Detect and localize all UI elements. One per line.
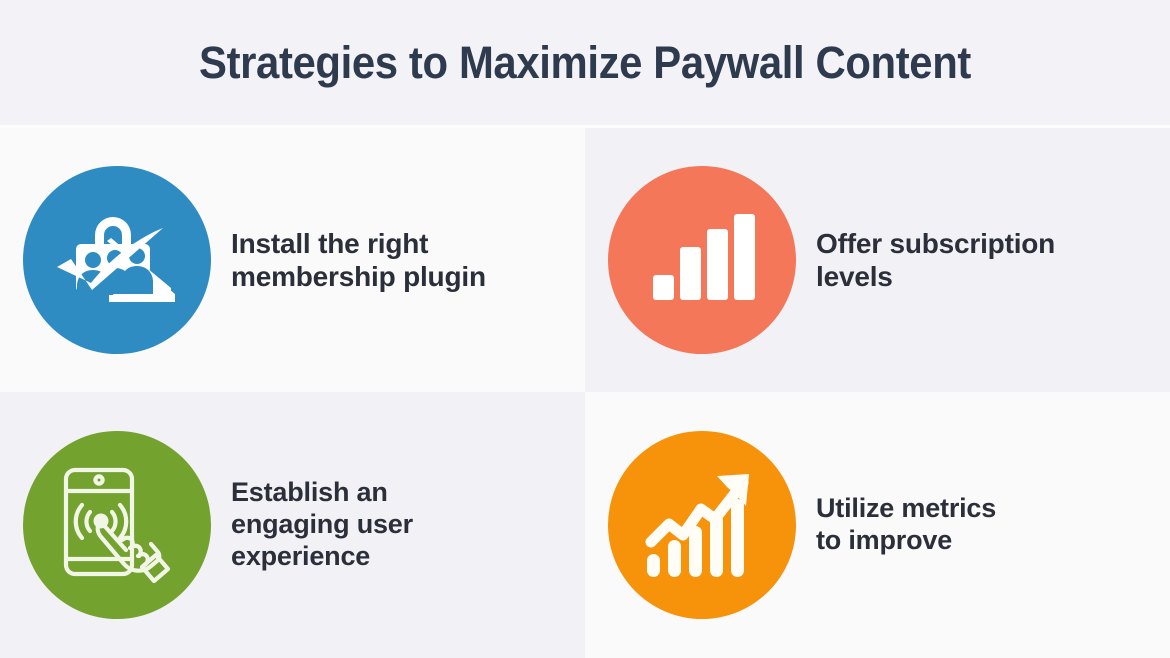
- strategy-grid: Install the right membership plugin Offe…: [0, 128, 1170, 658]
- mobile-tap-hand-icon: [23, 431, 211, 619]
- strategy-label-install-plugin: Install the right membership plugin: [231, 227, 585, 293]
- page-title: Strategies to Maximize Paywall Content: [41, 0, 1129, 125]
- membership-lock-check-icon: [23, 166, 211, 354]
- infographic-root: Strategies to Maximize Paywall Content: [0, 0, 1170, 658]
- strategy-label-user-experience: Establish an engaging user experience: [231, 477, 585, 573]
- growth-arrow-chart-icon: [608, 431, 796, 619]
- strategy-cell-install-plugin: Install the right membership plugin: [0, 128, 585, 392]
- strategy-cell-utilize-metrics: Utilize metrics to improve: [585, 392, 1170, 658]
- strategy-cell-subscription-levels: Offer subscription levels: [585, 128, 1170, 392]
- strategy-label-utilize-metrics: Utilize metrics to improve: [816, 493, 1170, 557]
- strategy-label-subscription-levels: Offer subscription levels: [816, 227, 1170, 293]
- bar-chart-icon: [608, 166, 796, 354]
- strategy-cell-user-experience: Establish an engaging user experience: [0, 392, 585, 658]
